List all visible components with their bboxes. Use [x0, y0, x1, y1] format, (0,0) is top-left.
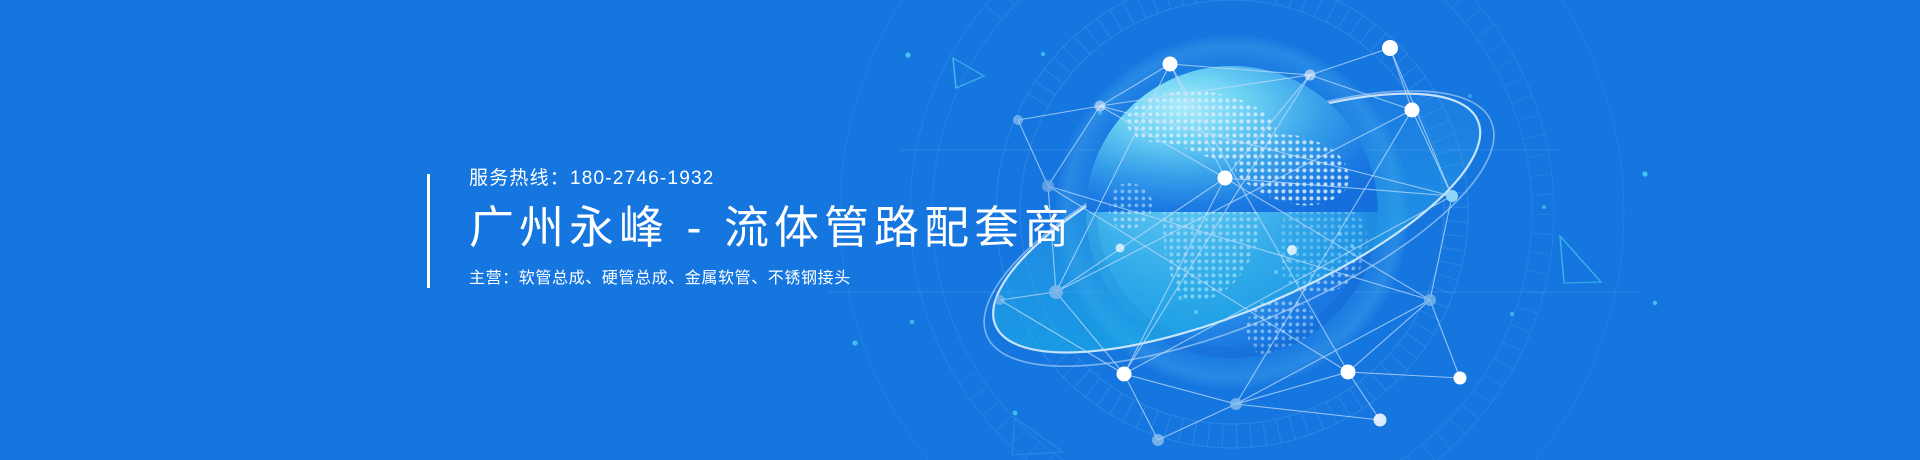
banner-text-block: 服务热线：180-2746-1932 广州永峰 - 流体管路配套商 主营：软管总…: [427, 168, 1074, 290]
accent-bar: [427, 174, 430, 288]
wire-triangle-icon-2: [953, 58, 984, 88]
globe-continents: [1086, 66, 1378, 360]
radar-ticks: [1028, 0, 1468, 448]
globe-sphere: [1086, 66, 1378, 358]
wire-triangle-icon: [1560, 236, 1601, 283]
wire-triangle-icon-3: [1012, 418, 1063, 455]
service-hotline: 服务热线：180-2746-1932: [469, 168, 1074, 190]
globe-glow: [1054, 34, 1410, 390]
banner-title: 广州永峰 - 流体管路配套商: [469, 200, 1074, 256]
banner-subtitle: 主营：软管总成、硬管总成、金属软管、不锈钢接头: [469, 268, 1074, 290]
hero-banner: 服务热线：180-2746-1932 广州永峰 - 流体管路配套商 主营：软管总…: [0, 0, 1920, 460]
